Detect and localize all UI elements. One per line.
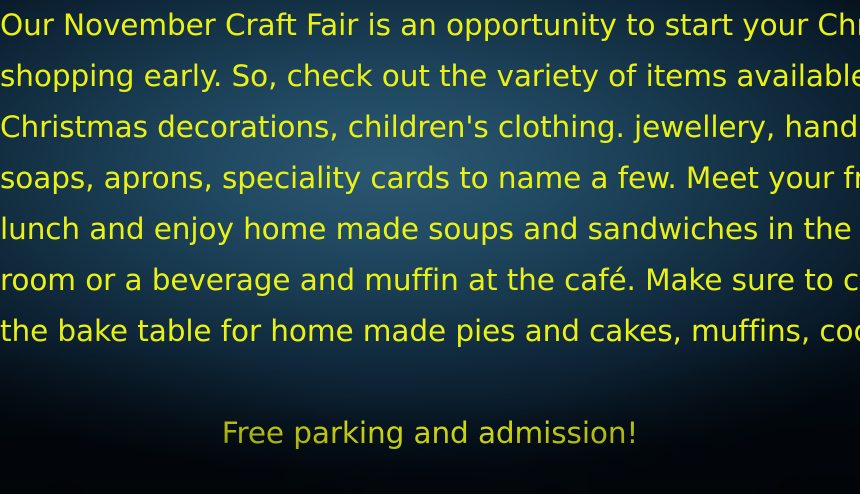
body-line: lunch and enjoy home made soups and sand… (0, 204, 860, 255)
slide-canvas: Our November Craft Fair is an opportunit… (0, 0, 860, 494)
slide-text-body: Our November Craft Fair is an opportunit… (0, 0, 860, 459)
body-line: Christmas decorations, children's clothi… (0, 102, 860, 153)
body-line: Our November Craft Fair is an opportunit… (0, 0, 860, 51)
closing-line: Free parking and admission! (0, 408, 860, 459)
body-line: room or a beverage and muffin at the caf… (0, 255, 860, 306)
body-line: shopping early. So, check out the variet… (0, 51, 860, 102)
body-line: soaps, aprons, speciality cards to name … (0, 153, 860, 204)
body-line: the bake table for home made pies and ca… (0, 306, 860, 357)
blank-line (0, 357, 860, 408)
